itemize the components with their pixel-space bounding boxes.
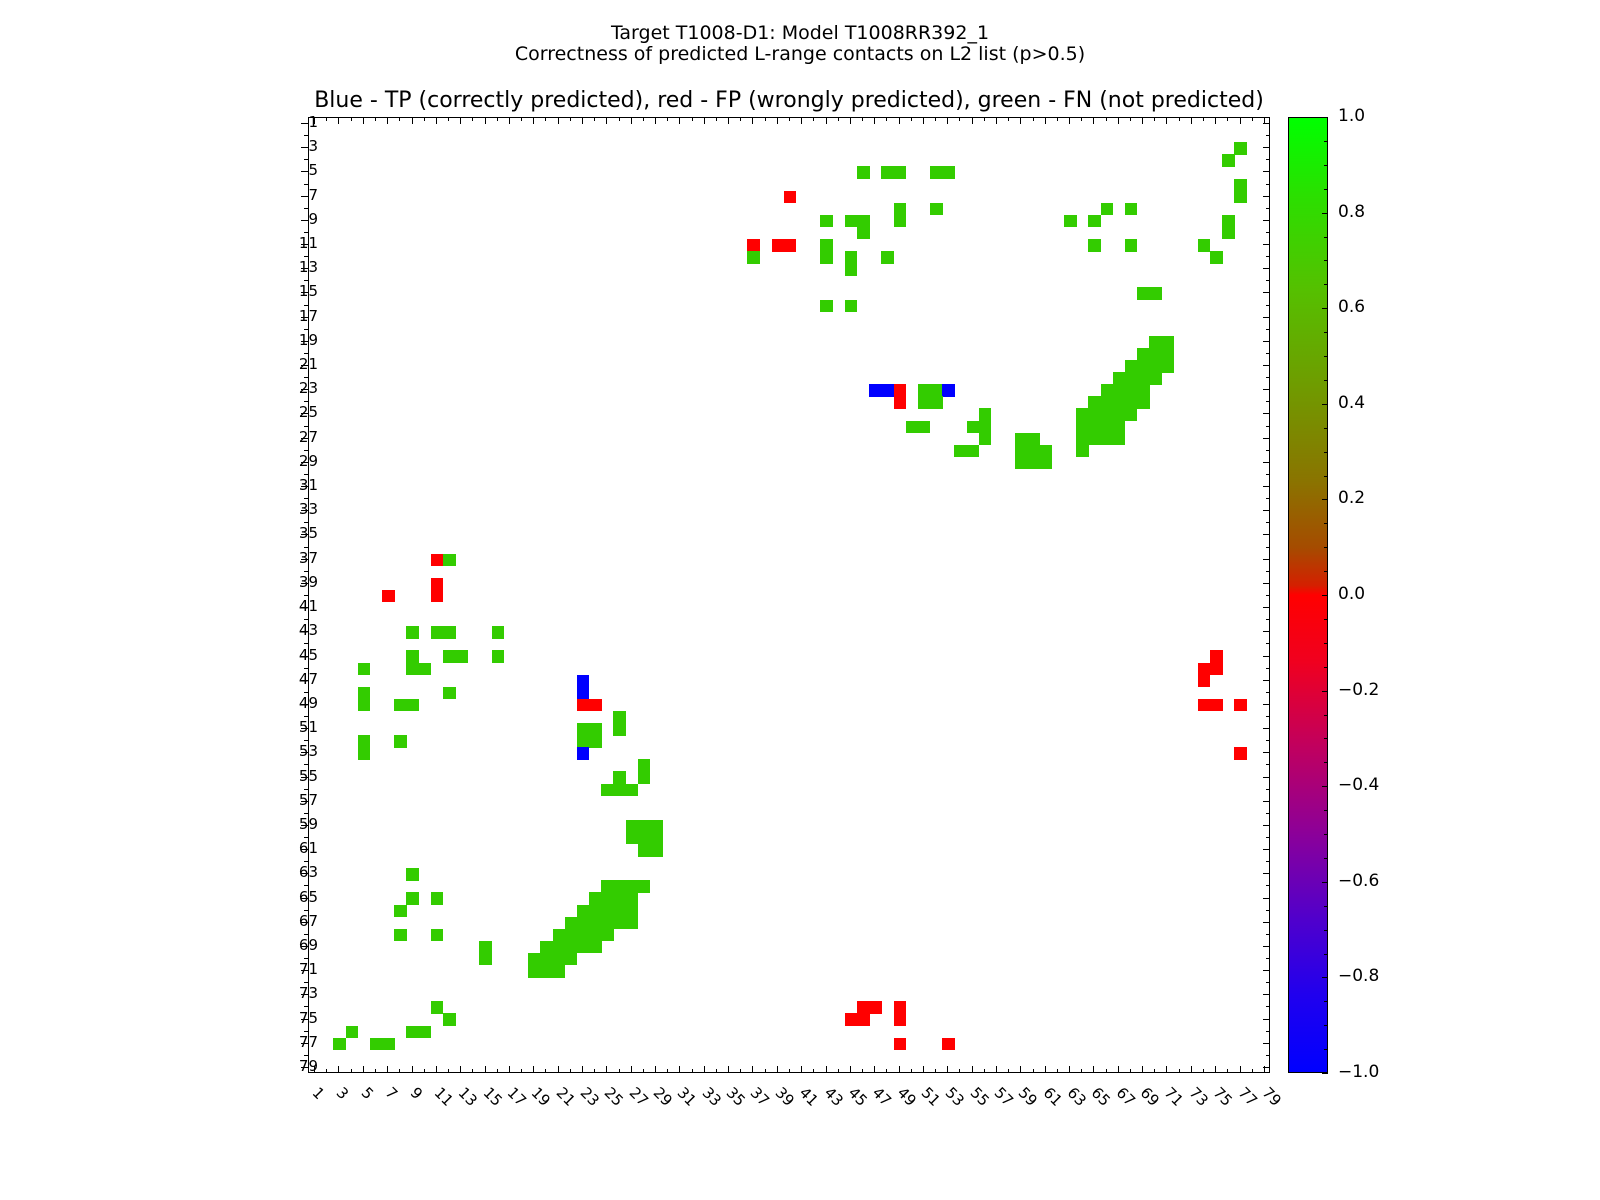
x-tick (485, 1066, 486, 1073)
x-tick (1215, 117, 1216, 124)
contact-cell (419, 1026, 432, 1039)
contact-cell (1101, 421, 1114, 434)
x-tick (850, 117, 851, 124)
contact-cell (358, 663, 371, 676)
y-tick (304, 208, 308, 209)
x-tick (533, 1066, 534, 1073)
contact-cell (626, 820, 639, 833)
x-tick (570, 117, 571, 121)
contact-cell (589, 905, 602, 918)
colorbar-minor-tick (1324, 834, 1328, 835)
contact-cell (1210, 699, 1223, 712)
contact-cell (1015, 445, 1028, 458)
y-tick (1263, 728, 1270, 729)
y-tick (304, 571, 308, 572)
contact-cell (638, 844, 651, 857)
x-tick (448, 117, 449, 121)
contact-cell (1088, 396, 1101, 409)
contact-cell (601, 905, 614, 918)
colorbar-minor-tick (1324, 141, 1328, 142)
x-tick-label: 53 (943, 1085, 967, 1109)
contact-cell (479, 941, 492, 954)
y-tick (1266, 571, 1270, 572)
x-tick (923, 117, 924, 124)
y-tick-label: 1 (308, 115, 318, 130)
contact-cell (857, 1013, 870, 1026)
x-tick (947, 1066, 948, 1073)
contact-cell (577, 905, 590, 918)
contact-cell (894, 1038, 907, 1051)
y-tick-label: 15 (299, 284, 318, 299)
contact-cell (857, 1001, 870, 1014)
contact-cell (1198, 663, 1211, 676)
contact-cell (1137, 287, 1150, 300)
x-tick (789, 117, 790, 121)
y-tick (301, 123, 308, 124)
x-tick (545, 117, 546, 121)
contact-cell (553, 953, 566, 966)
contact-cell (443, 650, 456, 663)
x-tick (984, 117, 985, 121)
x-tick-label: 65 (1089, 1085, 1113, 1109)
y-tick (1263, 486, 1270, 487)
x-tick (1057, 1069, 1058, 1073)
y-tick (1266, 1055, 1270, 1056)
contact-cell (1027, 457, 1040, 470)
x-tick-label: 73 (1186, 1085, 1210, 1109)
contact-cell (443, 554, 456, 567)
contact-cell (1210, 650, 1223, 663)
contact-cell (869, 384, 882, 397)
x-tick-label: 13 (456, 1085, 480, 1109)
contact-cell (894, 215, 907, 228)
contact-cell (565, 929, 578, 942)
y-tick-label: 73 (299, 986, 318, 1001)
y-tick (304, 740, 308, 741)
y-tick-label: 45 (299, 648, 318, 663)
contact-cell (577, 723, 590, 736)
contact-cell (565, 917, 578, 930)
contact-cell (394, 735, 407, 748)
contact-cell (930, 396, 943, 409)
y-tick-label: 69 (299, 938, 318, 953)
contact-cell (894, 384, 907, 397)
colorbar-minor-tick (1324, 284, 1328, 285)
contact-cell (1149, 360, 1162, 373)
x-tick (1033, 1069, 1034, 1073)
contact-cell (406, 626, 419, 639)
contact-cell (492, 650, 505, 663)
y-tick (304, 353, 308, 354)
y-tick-label: 9 (308, 212, 318, 227)
y-tick-label: 57 (299, 793, 318, 808)
contact-cell (857, 215, 870, 228)
x-tick (545, 1069, 546, 1073)
x-tick (1142, 1066, 1143, 1073)
colorbar-major-tick (1322, 977, 1328, 978)
x-tick-label: 41 (797, 1085, 821, 1109)
x-tick (777, 117, 778, 124)
x-tick (813, 117, 814, 121)
y-tick (304, 982, 308, 983)
x-tick (911, 1069, 912, 1073)
x-tick (838, 1069, 839, 1073)
contact-cell (394, 905, 407, 918)
y-tick (304, 910, 308, 911)
figure-title-line2: Correctness of predicted L-range contact… (0, 41, 1600, 67)
y-tick (1263, 777, 1270, 778)
x-tick (387, 1066, 388, 1073)
contact-cell (577, 941, 590, 954)
colorbar-minor-tick (1324, 189, 1328, 190)
contact-cell (1088, 239, 1101, 252)
contact-cell (431, 554, 444, 567)
x-tick-label: 67 (1113, 1085, 1137, 1109)
y-tick (1266, 450, 1270, 451)
contact-cell (626, 832, 639, 845)
y-tick-label: 75 (299, 1011, 318, 1026)
y-tick (1263, 607, 1270, 608)
y-tick-label: 13 (299, 260, 318, 275)
colorbar-tick-label: −0.4 (1338, 777, 1379, 794)
x-tick-label: 1 (309, 1085, 326, 1102)
x-tick (570, 1069, 571, 1073)
y-tick (304, 1006, 308, 1007)
contact-cell (528, 953, 541, 966)
y-tick (301, 171, 308, 172)
y-tick (1263, 317, 1270, 318)
y-tick-label: 67 (299, 914, 318, 929)
x-tick (923, 1066, 924, 1073)
y-tick (304, 305, 308, 306)
colorbar-tick-label: 0.6 (1338, 299, 1365, 316)
y-tick (1266, 692, 1270, 693)
x-tick-label: 33 (699, 1085, 723, 1109)
x-tick (375, 1069, 376, 1073)
contact-cell (492, 626, 505, 639)
y-tick (304, 184, 308, 185)
y-tick (304, 692, 308, 693)
y-tick-label: 47 (299, 672, 318, 687)
x-tick (582, 1066, 583, 1073)
y-tick-label: 55 (299, 769, 318, 784)
y-tick-label: 53 (299, 744, 318, 759)
y-tick (1263, 680, 1270, 681)
x-tick (667, 1069, 668, 1073)
y-tick (1263, 196, 1270, 197)
x-tick (387, 117, 388, 124)
colorbar-minor-tick (1324, 260, 1328, 261)
contact-cell (626, 892, 639, 905)
contact-cell (650, 820, 663, 833)
y-tick-label: 29 (299, 454, 318, 469)
contact-cell (601, 917, 614, 930)
contact-cell (894, 1001, 907, 1014)
contact-cell (613, 917, 626, 930)
x-tick (740, 117, 741, 121)
colorbar-major-tick (1322, 595, 1328, 596)
y-tick (304, 474, 308, 475)
x-tick (984, 1069, 985, 1073)
y-tick (1266, 861, 1270, 862)
y-tick (1263, 970, 1270, 971)
x-tick (972, 117, 973, 124)
y-tick-label: 39 (299, 575, 318, 590)
x-tick (874, 1066, 875, 1073)
x-tick (1252, 1069, 1253, 1073)
y-tick (304, 135, 308, 136)
x-tick (752, 117, 753, 124)
contact-cell (1113, 433, 1126, 446)
x-tick (619, 117, 620, 121)
contact-cell (1222, 227, 1235, 240)
y-tick (1266, 280, 1270, 281)
y-tick (1263, 534, 1270, 535)
x-tick (1033, 117, 1034, 121)
contact-cell (382, 590, 395, 603)
contact-cell (1101, 203, 1114, 216)
y-tick (304, 861, 308, 862)
x-tick (619, 1069, 620, 1073)
contact-cell (431, 1001, 444, 1014)
contact-cell (638, 832, 651, 845)
contact-cell (577, 675, 590, 688)
y-tick (1263, 801, 1270, 802)
colorbar-major-tick (1322, 213, 1328, 214)
contact-cell (845, 251, 858, 264)
contact-map-plot[interactable] (308, 117, 1270, 1073)
contact-cell (820, 215, 833, 228)
y-tick (304, 256, 308, 257)
colorbar-minor-tick (1324, 571, 1328, 572)
contact-cell (406, 650, 419, 663)
x-tick (1118, 117, 1119, 124)
y-tick (1263, 946, 1270, 947)
colorbar-major-tick (1322, 1073, 1328, 1074)
y-tick (304, 159, 308, 160)
contact-cell (784, 239, 797, 252)
contact-cell (406, 699, 419, 712)
y-tick-label: 17 (299, 309, 318, 324)
colorbar-minor-tick (1324, 547, 1328, 548)
x-tick-label: 49 (894, 1085, 918, 1109)
contact-cell (1088, 433, 1101, 446)
y-tick (1266, 837, 1270, 838)
x-tick (765, 117, 766, 121)
contact-cell (894, 203, 907, 216)
x-tick (448, 1069, 449, 1073)
y-tick (304, 789, 308, 790)
y-tick (1266, 740, 1270, 741)
contact-cell (553, 929, 566, 942)
x-tick (412, 117, 413, 124)
contact-cell (1088, 408, 1101, 421)
contact-cell (1125, 239, 1138, 252)
contact-cell (1101, 433, 1114, 446)
contact-cell (613, 892, 626, 905)
contact-cell (346, 1026, 359, 1039)
contact-cell (528, 965, 541, 978)
x-tick (424, 117, 425, 121)
y-tick (1263, 704, 1270, 705)
contact-cell (1101, 384, 1114, 397)
x-tick (874, 117, 875, 124)
contact-cell (1198, 699, 1211, 712)
colorbar-minor-tick (1324, 1025, 1328, 1026)
y-tick-label: 61 (299, 841, 318, 856)
contact-cell (979, 408, 992, 421)
x-tick-label: 51 (918, 1085, 942, 1109)
contact-cell (1027, 445, 1040, 458)
x-tick (351, 117, 352, 121)
contact-cell (406, 1026, 419, 1039)
x-tick-label: 19 (529, 1085, 553, 1109)
contact-cell (577, 917, 590, 930)
contact-cell (443, 626, 456, 639)
x-tick-label: 47 (870, 1085, 894, 1109)
contact-cell (589, 917, 602, 930)
x-tick (363, 117, 364, 124)
x-tick (704, 117, 705, 124)
colorbar-minor-tick (1324, 1049, 1328, 1050)
x-tick (460, 117, 461, 124)
y-tick (1263, 656, 1270, 657)
x-tick (1008, 1069, 1009, 1073)
contact-cell (918, 396, 931, 409)
contact-cell (942, 384, 955, 397)
x-tick (558, 117, 559, 124)
x-tick (1069, 1066, 1070, 1073)
x-tick (935, 117, 936, 121)
y-tick (304, 329, 308, 330)
x-tick (862, 1069, 863, 1073)
x-tick (813, 1069, 814, 1073)
contact-cell (1149, 348, 1162, 361)
y-tick (304, 595, 308, 596)
contact-cell (1125, 203, 1138, 216)
contact-cell (881, 166, 894, 179)
contact-cell (1222, 215, 1235, 228)
contact-cell (577, 735, 590, 748)
y-tick (304, 885, 308, 886)
contact-cell (1161, 336, 1174, 349)
x-tick (1240, 1066, 1241, 1073)
x-tick (716, 117, 717, 121)
x-tick (752, 1066, 753, 1073)
contact-cell (967, 421, 980, 434)
x-tick (1191, 1066, 1192, 1073)
contact-cells-layer (309, 118, 1269, 1072)
contact-cell (1064, 215, 1077, 228)
y-tick-label: 3 (308, 139, 318, 154)
x-tick-label: 17 (504, 1085, 528, 1109)
contact-cell (431, 892, 444, 905)
contact-cell (626, 880, 639, 893)
x-tick (1227, 117, 1228, 121)
contact-cell (565, 941, 578, 954)
contact-cell (930, 384, 943, 397)
contact-cell (918, 384, 931, 397)
x-tick (959, 1069, 960, 1073)
contact-cell (820, 300, 833, 313)
x-tick (521, 1069, 522, 1073)
contact-cell (613, 771, 626, 784)
contact-cell (1101, 396, 1114, 409)
x-tick (911, 117, 912, 121)
contact-cell (394, 699, 407, 712)
contact-cell (747, 239, 760, 252)
y-tick (1266, 305, 1270, 306)
x-tick (1057, 117, 1058, 121)
x-tick (1179, 1069, 1180, 1073)
x-tick-label: 45 (845, 1085, 869, 1109)
x-tick-label: 11 (431, 1085, 455, 1109)
contact-cell (1040, 457, 1053, 470)
contact-cell (626, 905, 639, 918)
x-tick (375, 117, 376, 121)
x-tick (1240, 117, 1241, 124)
contact-cell (565, 953, 578, 966)
colorbar-minor-tick (1324, 858, 1328, 859)
x-tick (424, 1069, 425, 1073)
contact-cell (638, 820, 651, 833)
contact-cell (406, 868, 419, 881)
x-tick (582, 117, 583, 124)
x-tick (460, 1066, 461, 1073)
y-tick (304, 643, 308, 644)
y-tick (301, 147, 308, 148)
contact-cell (577, 699, 590, 712)
colorbar-tick-label: 0.0 (1338, 586, 1365, 603)
x-tick (1118, 1066, 1119, 1073)
x-tick-label: 23 (577, 1085, 601, 1109)
x-tick (959, 117, 960, 121)
colorbar-minor-tick (1324, 738, 1328, 739)
x-tick (850, 1066, 851, 1073)
contact-cell (479, 953, 492, 966)
contact-cell (784, 191, 797, 204)
contact-cell (601, 880, 614, 893)
contact-cell (455, 650, 468, 663)
x-tick-label: 77 (1235, 1085, 1259, 1109)
contact-cell (431, 578, 444, 591)
x-tick (1093, 117, 1094, 124)
x-tick (606, 1066, 607, 1073)
contact-cell (1234, 747, 1247, 760)
x-tick-label: 75 (1211, 1085, 1235, 1109)
x-tick (643, 1069, 644, 1073)
y-tick (301, 196, 308, 197)
x-tick-label: 61 (1040, 1085, 1064, 1109)
y-tick (1263, 825, 1270, 826)
y-tick-label: 33 (299, 502, 318, 517)
contact-cell (553, 965, 566, 978)
contact-cell (967, 445, 980, 458)
x-tick (1106, 1069, 1107, 1073)
x-tick (399, 1069, 400, 1073)
contact-cell (443, 1013, 456, 1026)
contact-cell (1210, 663, 1223, 676)
y-tick-label: 27 (299, 430, 318, 445)
contact-cell (930, 166, 943, 179)
contact-cell (820, 251, 833, 264)
x-tick-label: 57 (991, 1085, 1015, 1109)
y-tick-label: 5 (308, 163, 318, 178)
x-tick-label: 15 (480, 1085, 504, 1109)
x-tick (1106, 117, 1107, 121)
contact-cell (1161, 360, 1174, 373)
x-tick-label: 27 (626, 1085, 650, 1109)
